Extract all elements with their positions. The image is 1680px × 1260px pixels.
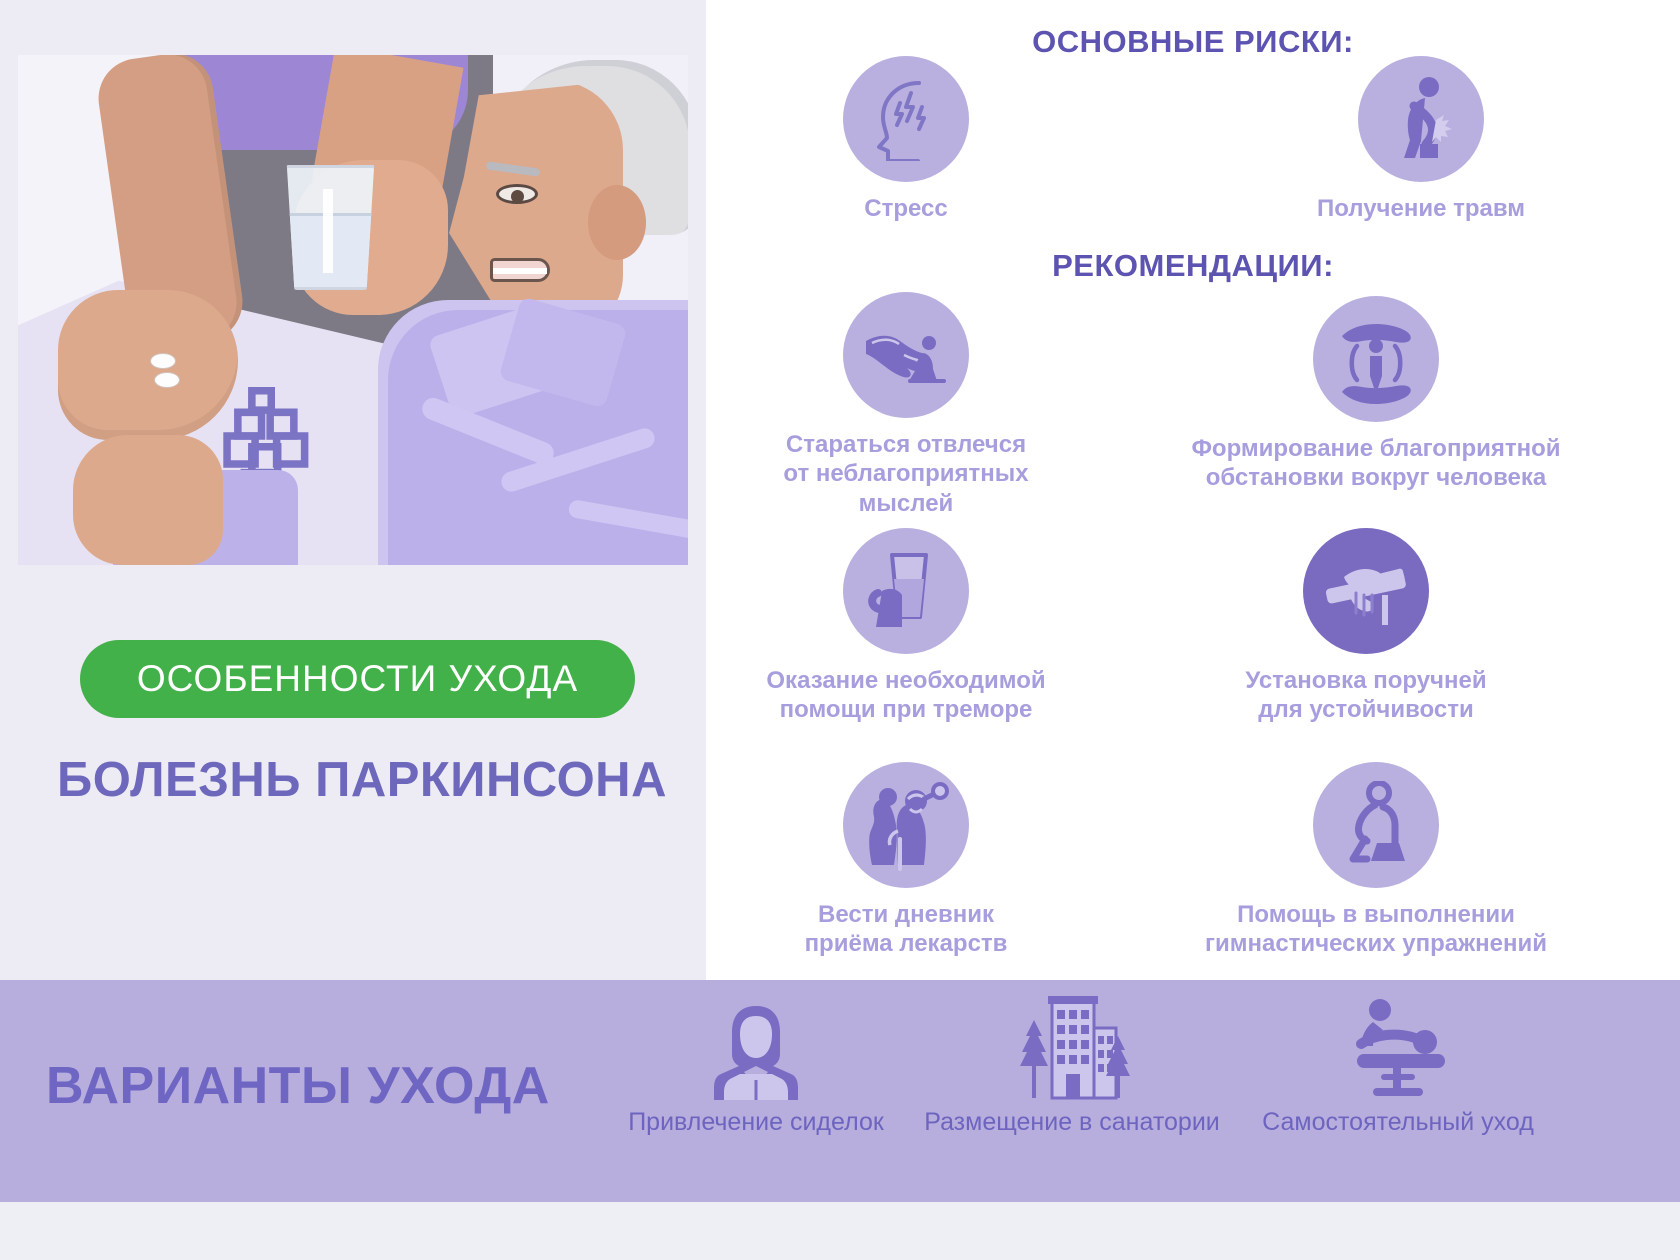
eye <box>496 184 538 204</box>
recommendation-item-medication-diary[interactable]: Вести дневник приёма лекарств <box>746 762 1066 959</box>
care-option-nurse[interactable]: Привлечение сиделок <box>596 990 916 1137</box>
care-option-label: Размещение в санатории <box>912 1108 1232 1137</box>
recommendations-heading: РЕКОМЕНДАЦИИ: <box>706 248 1680 284</box>
risk-item-stress[interactable]: Стресс <box>756 56 1056 223</box>
water-glass-icon <box>283 165 378 290</box>
care-option-label: Привлечение сиделок <box>596 1108 916 1137</box>
care-options-bar: ВАРИАНТЫ УХОДА Привлечение сиделок <box>0 980 1680 1202</box>
recommendation-label: Оказание необходимой помощи при треморе <box>726 666 1086 725</box>
helping-hand-icon <box>860 313 952 397</box>
elderly-man-shirt <box>378 300 688 565</box>
elderly-man-hand <box>73 435 223 565</box>
care-features-label: ОСОБЕННОСТИ УХОДА <box>137 658 578 700</box>
pill-icon <box>150 353 176 369</box>
risk-label: Стресс <box>756 194 1056 223</box>
shirt-fold <box>567 499 688 539</box>
recommendation-item-tremor-help[interactable]: Оказание необходимой помощи при треморе <box>726 528 1086 725</box>
pill-icon <box>154 372 180 388</box>
eyebrow <box>486 161 541 176</box>
right-panel: ОСНОВНЫЕ РИСКИ: Стресс <box>706 0 1680 980</box>
caregiver-left-hand <box>58 290 238 440</box>
recommendation-item-environment[interactable]: Формирование благоприятной обстановки во… <box>1086 296 1666 493</box>
hand-holding-glass-icon <box>868 545 944 637</box>
hand-on-handrail-icon <box>1322 551 1410 631</box>
person-exercising-icon <box>1339 781 1413 869</box>
recommendation-item-distraction[interactable]: Стараться отвлечся от неблагоприятных мы… <box>726 292 1086 518</box>
hands-protect-person-icon <box>1330 312 1422 406</box>
care-features-badge[interactable]: ОСОБЕННОСТИ УХОДА <box>80 640 635 718</box>
recommendation-label: Помощь в выполнении гимнастических упраж… <box>1096 900 1656 959</box>
risk-item-injury[interactable]: Получение травм <box>1241 56 1601 223</box>
care-option-label: Самостоятельный уход <box>1238 1108 1558 1137</box>
recommendation-item-handrails[interactable]: Установка поручней для устойчивости <box>1126 528 1606 725</box>
left-panel: ОСОБЕННОСТИ УХОДА БОЛЕЗНЬ ПАРКИНСОНА <box>0 0 706 980</box>
caregiver-illustration <box>18 55 688 565</box>
risks-heading: ОСНОВНЫЕ РИСКИ: <box>706 24 1680 60</box>
care-option-self-care[interactable]: Самостоятельный уход <box>1238 990 1558 1137</box>
recommendation-item-exercises[interactable]: Помощь в выполнении гимнастических упраж… <box>1096 762 1656 959</box>
recommendation-label: Установка поручней для устойчивости <box>1126 666 1606 725</box>
head-lightning-icon <box>867 77 945 161</box>
recommendation-label: Стараться отвлечся от неблагоприятных мы… <box>726 430 1086 518</box>
recommendation-label: Формирование благоприятной обстановки во… <box>1086 434 1666 493</box>
self-care-massage-icon <box>1343 996 1453 1100</box>
care-option-sanatorium[interactable]: Размещение в санатории <box>912 990 1232 1137</box>
person-injury-icon <box>1384 76 1458 162</box>
sanatorium-building-icon <box>1012 994 1132 1100</box>
infographic-page: ОСОБЕННОСТИ УХОДА БОЛЕЗНЬ ПАРКИНСОНА ОСН… <box>0 0 1680 1260</box>
nurse-woman-icon <box>714 1000 798 1100</box>
mouth <box>490 258 550 282</box>
ear <box>588 185 646 260</box>
footer-strip <box>0 1202 1680 1260</box>
risk-label: Получение травм <box>1241 194 1601 223</box>
page-title: БОЛЕЗНЬ ПАРКИНСОНА <box>22 752 702 808</box>
care-options-title: ВАРИАНТЫ УХОДА <box>46 1056 550 1116</box>
recommendation-label: Вести дневник приёма лекарств <box>746 900 1066 959</box>
caregiver-with-elder-icon <box>860 779 952 871</box>
